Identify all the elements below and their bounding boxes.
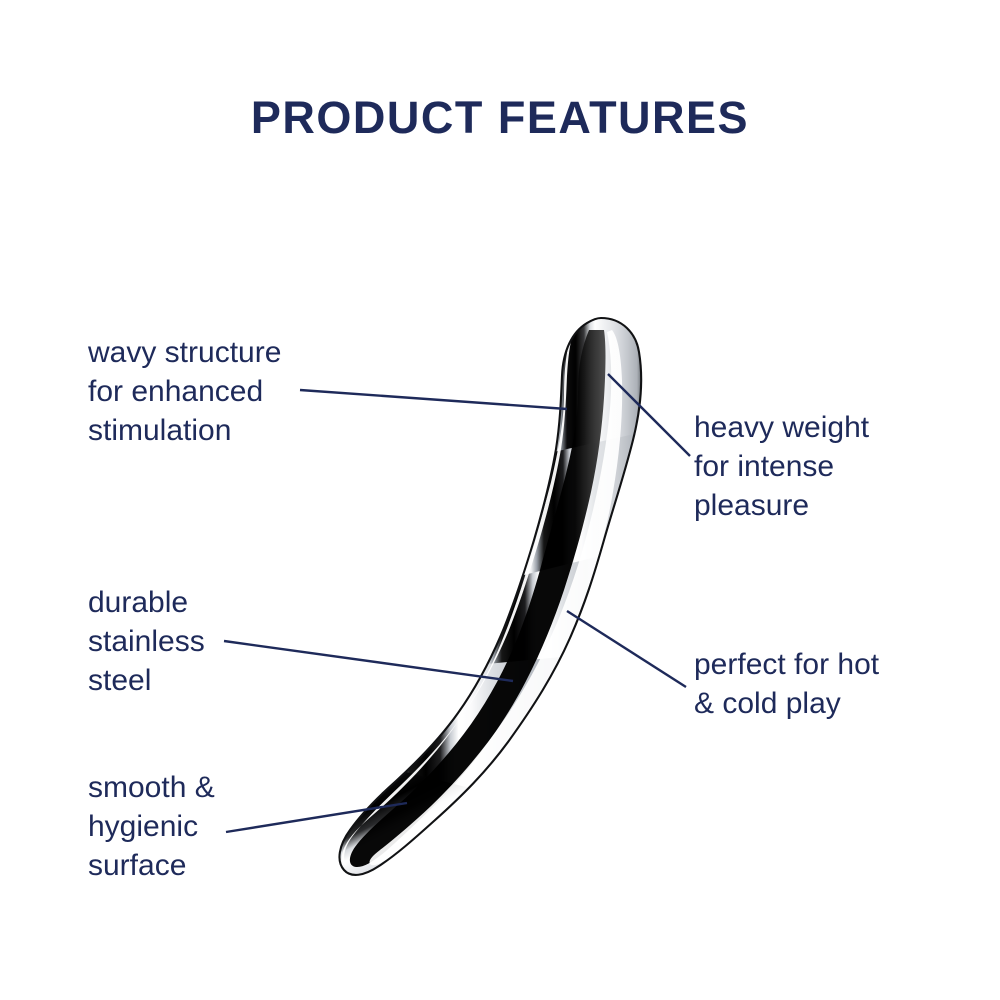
product-features-page: PRODUCT FEATURES: [0, 0, 1000, 1000]
product-shading: [320, 310, 652, 910]
feature-label-wavy-structure: wavy structure for enhanced stimulation: [88, 333, 348, 450]
feature-label-heavy-weight: heavy weight for intense pleasure: [694, 408, 974, 525]
product-body: [320, 310, 652, 910]
feature-label-durable-stainless-steel: durable stainless steel: [88, 583, 348, 700]
feature-label-perfect-hot-cold-play: perfect for hot & cold play: [694, 645, 974, 723]
feature-label-smooth-hygienic-surface: smooth & hygienic surface: [88, 768, 348, 885]
